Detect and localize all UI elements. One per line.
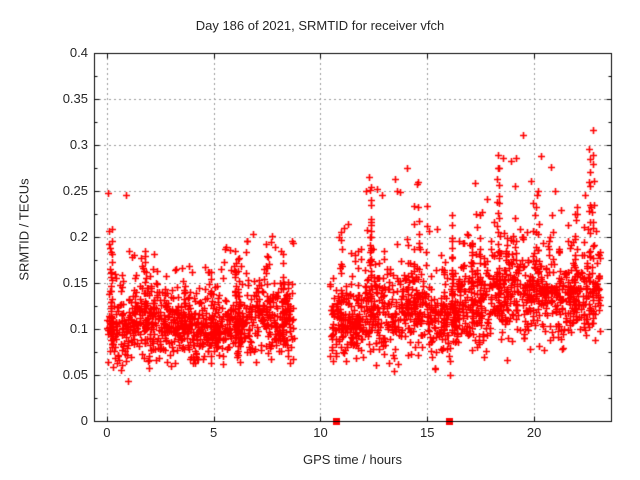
y-tick-label: 0.2	[42, 230, 88, 243]
y-axis-label: SRMTID / TECUs	[17, 140, 32, 320]
y-tick-label: 0.35	[42, 92, 88, 105]
x-axis-label: GPS time / hours	[94, 452, 611, 467]
chart-figure: Day 186 of 2021, SRMTID for receiver vfc…	[0, 0, 640, 480]
x-tick-label: 20	[514, 425, 554, 440]
x-tick-label: 15	[407, 425, 447, 440]
page-title: Day 186 of 2021, SRMTID for receiver vfc…	[0, 18, 640, 33]
y-tick-label: 0.15	[42, 276, 88, 289]
scatter-plot-canvas	[0, 0, 640, 480]
y-tick-label: 0.25	[42, 184, 88, 197]
x-tick-label: 0	[87, 425, 127, 440]
y-tick-label: 0.1	[42, 322, 88, 335]
y-tick-label: 0.05	[42, 368, 88, 381]
x-tick-label: 5	[194, 425, 234, 440]
y-tick-label: 0.4	[42, 46, 88, 59]
y-tick-label: 0.3	[42, 138, 88, 151]
y-tick-label: 0	[42, 414, 88, 427]
x-tick-label: 10	[300, 425, 340, 440]
